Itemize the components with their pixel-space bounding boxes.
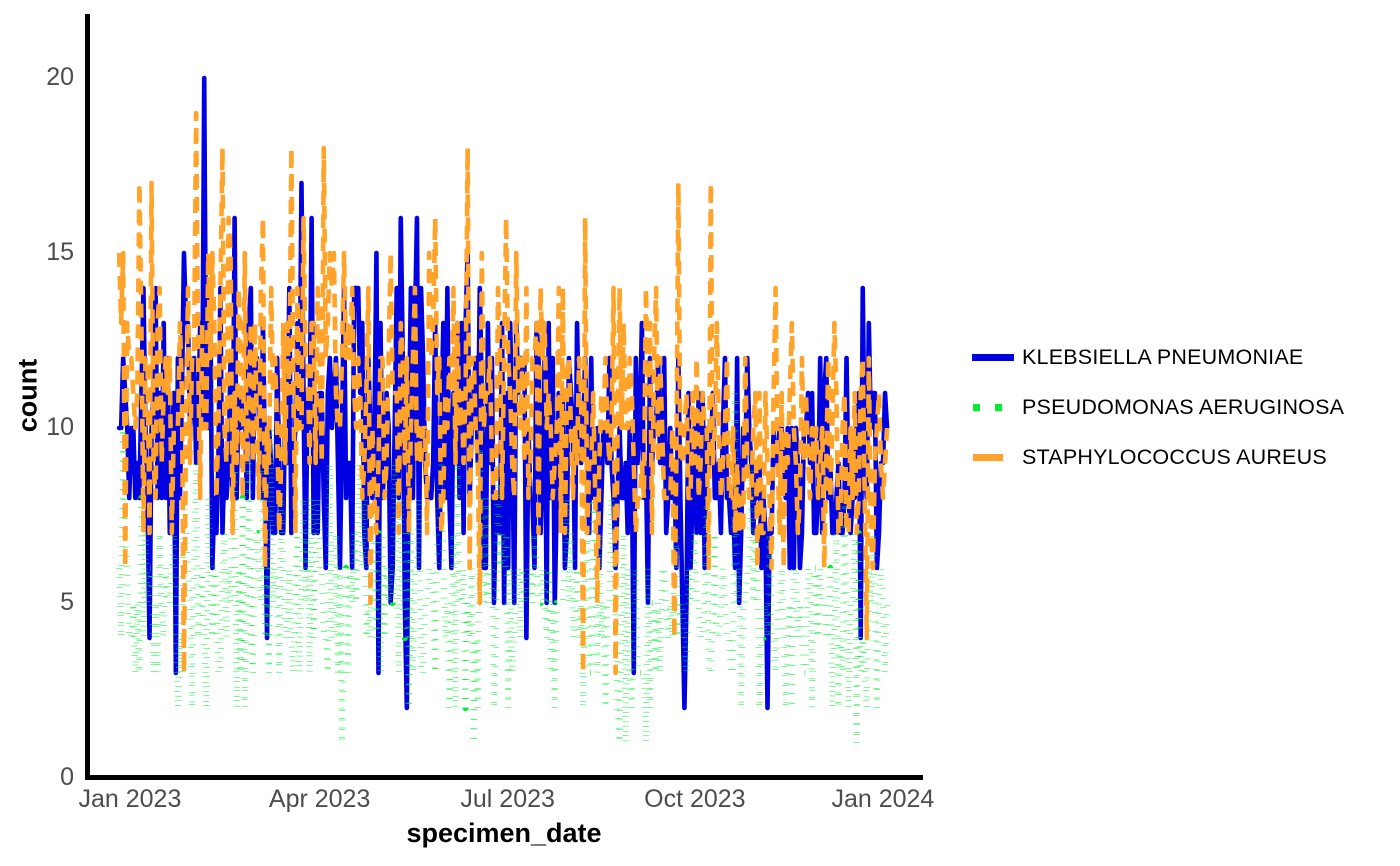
y-tick-label: 10 bbox=[16, 415, 74, 440]
x-tick-label: Jul 2023 bbox=[460, 787, 555, 812]
legend-item[interactable]: KLEBSIELLA PNEUMONIAE bbox=[968, 332, 1388, 382]
x-tick-label: Jan 2023 bbox=[78, 787, 181, 812]
plot-area bbox=[90, 10, 922, 778]
legend-label: KLEBSIELLA PNEUMONIAE bbox=[1022, 345, 1303, 370]
series-canvas bbox=[90, 10, 922, 778]
legend: KLEBSIELLA PNEUMONIAEPSEUDOMONAS AERUGIN… bbox=[968, 332, 1388, 482]
legend-label: PSEUDOMONAS AERUGINOSA bbox=[1022, 395, 1344, 420]
legend-item[interactable]: PSEUDOMONAS AERUGINOSA bbox=[968, 382, 1388, 432]
x-tick-label: Jan 2024 bbox=[831, 787, 934, 812]
y-tick-label: 15 bbox=[16, 240, 74, 265]
y-tick-label: 5 bbox=[16, 590, 74, 615]
legend-key-dotted-icon bbox=[968, 395, 1022, 419]
y-tick-label: 0 bbox=[16, 765, 74, 790]
x-tick-label: Apr 2023 bbox=[269, 787, 370, 812]
y-axis-tick-labels: 05101520 bbox=[0, 0, 74, 866]
x-axis-title: specimen_date bbox=[88, 818, 920, 849]
chart-root: count 05101520 Jan 2023Apr 2023Jul 2023O… bbox=[0, 0, 1400, 866]
y-tick-label: 20 bbox=[16, 65, 74, 90]
legend-key-dashed-icon bbox=[968, 445, 1022, 469]
x-tick-label: Oct 2023 bbox=[644, 787, 745, 812]
legend-item[interactable]: STAPHYLOCOCCUS AUREUS bbox=[968, 432, 1388, 482]
legend-label: STAPHYLOCOCCUS AUREUS bbox=[1022, 445, 1327, 470]
legend-key-solid-icon bbox=[968, 345, 1022, 369]
